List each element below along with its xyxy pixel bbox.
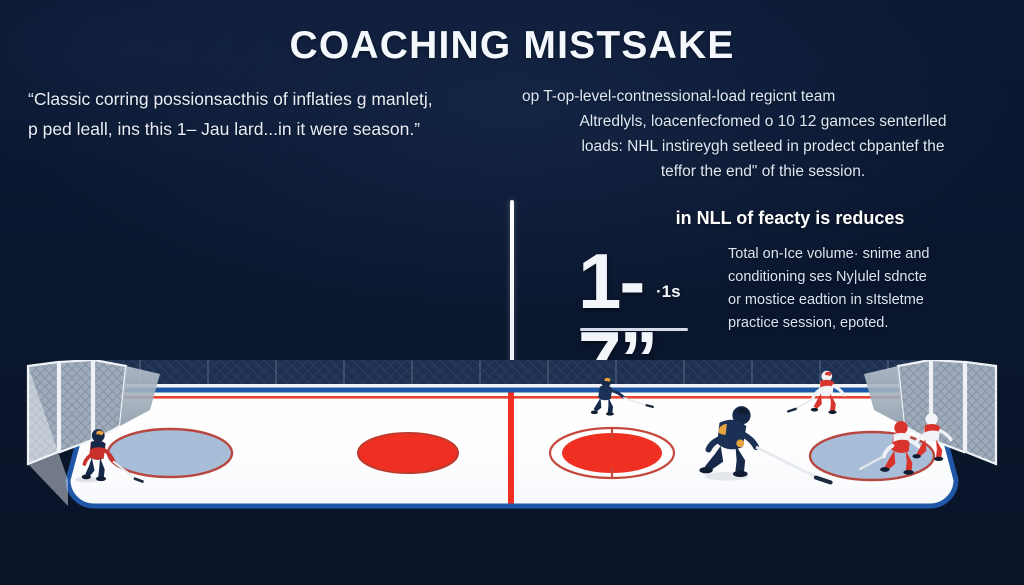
paragraph-small-line-1: Total on-Ice volume· snime and <box>728 243 990 266</box>
paragraph-right-line-4: teffor the end" of thie session. <box>528 159 998 184</box>
quote-left-line-1: “Classic corring possionsacthis of infla… <box>28 84 508 114</box>
page-title: COACHING MISTSAKE <box>0 24 1024 68</box>
stat-underline <box>580 328 688 331</box>
paragraph-right-block: op T-op-level-contnessional-load regicnt… <box>528 84 998 184</box>
faceoff-circle-left-blue <box>108 429 232 477</box>
quote-left-line-2: p ped leall, ins this 1– Jau lard...in i… <box>28 114 508 144</box>
section-subheading: in NLL of feacty is reduces <box>600 206 980 230</box>
paragraph-small-line-3: or mostice eadtion in sItsletme <box>728 289 990 312</box>
faceoff-circle-left-red <box>358 433 458 473</box>
center-red-line <box>508 390 514 510</box>
faceoff-circle-right-red <box>550 428 674 478</box>
paragraph-small-block: Total on-Ice volume· snime and condition… <box>728 243 990 335</box>
vertical-divider-line <box>510 200 514 372</box>
paragraph-small-line-4: practice session, epoted. <box>728 312 990 335</box>
paragraph-small-line-2: conditioning ses Ny|ulel ѕdncte <box>728 266 990 289</box>
poster-canvas: COACHING MISTSAKE “Classic corring possi… <box>0 0 1024 585</box>
hockey-rink-illustration <box>0 360 1024 540</box>
paragraph-right-line-2: Altredlyls, loacenfecfomed o 10 12 gamce… <box>528 109 998 134</box>
quote-left-block: “Classic corring possionsacthis of infla… <box>28 84 508 144</box>
paragraph-right-line-1: op T-op-level-contnessional-load regicnt… <box>522 84 998 109</box>
paragraph-right-line-3: loads: NHL instireygh setleed in prodect… <box>528 134 998 159</box>
stat-suffix: ·1s <box>656 282 681 302</box>
stat-callout: 1-7” ·1s <box>578 248 698 334</box>
